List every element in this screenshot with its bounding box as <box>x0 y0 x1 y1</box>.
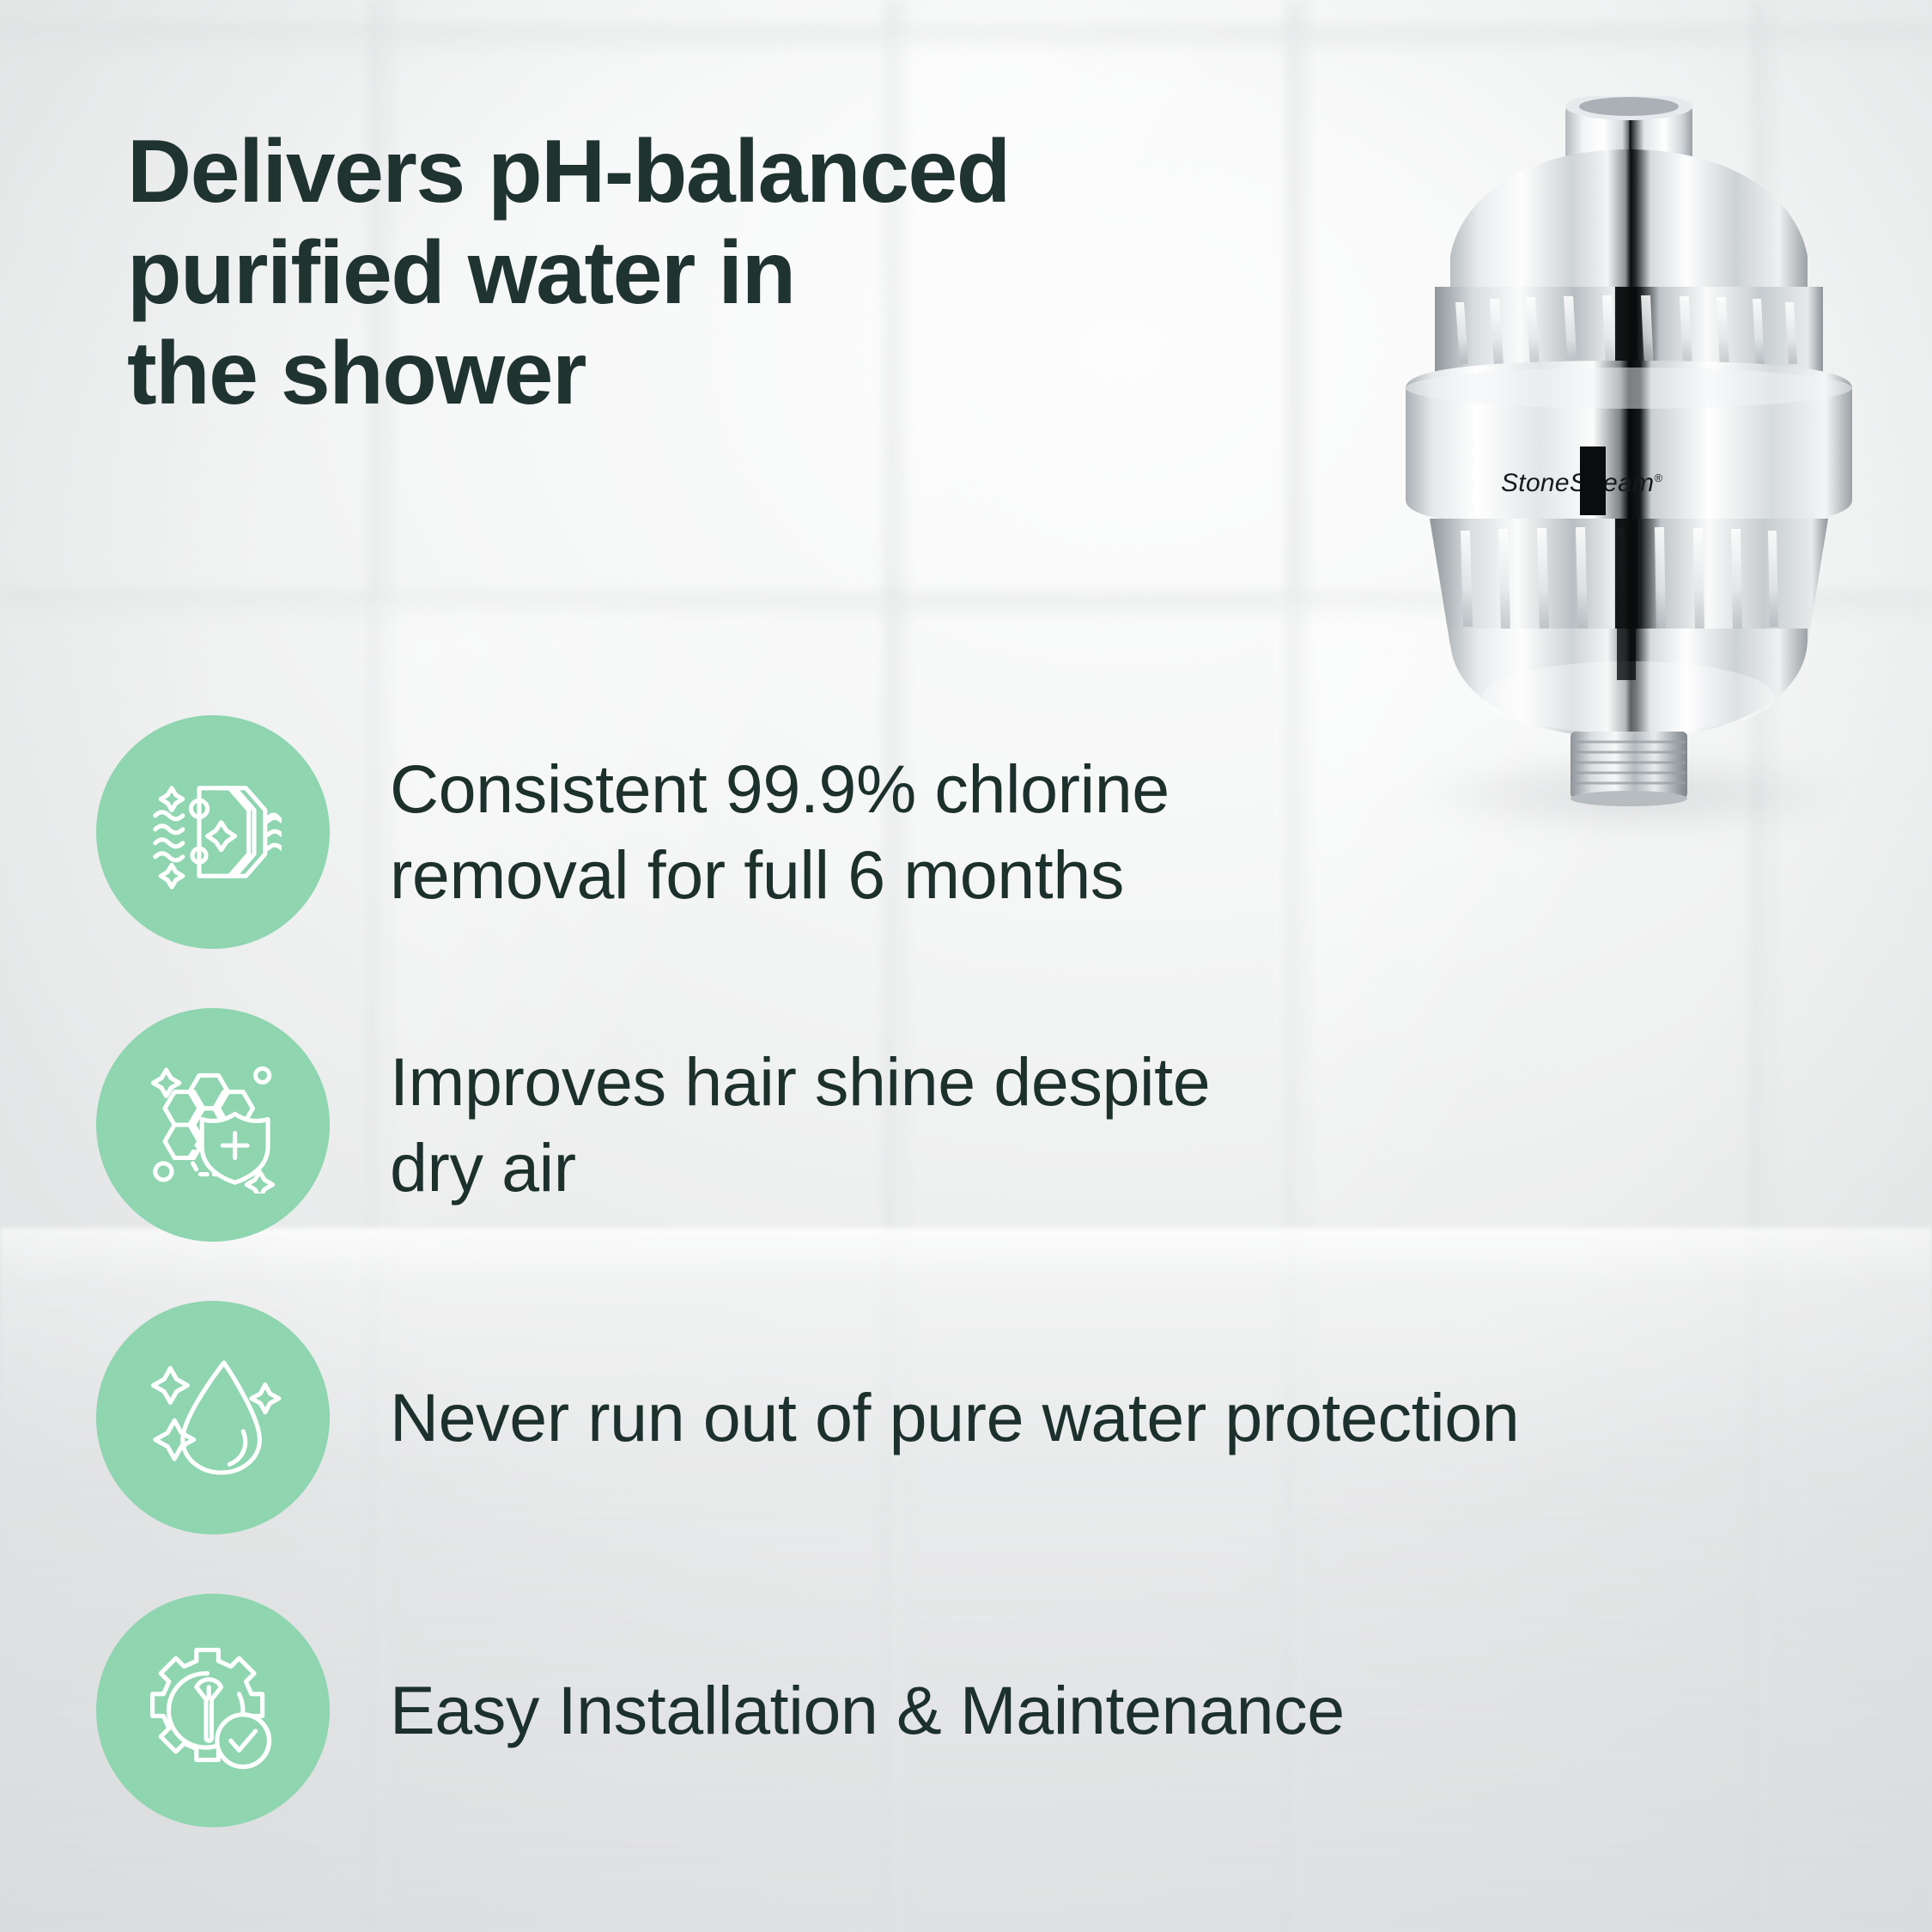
feature-text: Consistent 99.9% chlorineremoval for ful… <box>390 746 1170 919</box>
feature-row: Never run out of pure water protection <box>0 1298 1932 1537</box>
feature-line-2: dry air <box>390 1129 576 1206</box>
feature-line-1: Never run out of pure water protection <box>390 1379 1519 1455</box>
product-feature-card: Delivers pH-balancedpurified water inthe… <box>0 0 1932 1932</box>
feature-row: Easy Installation & Maintenance <box>0 1591 1932 1830</box>
headline-line-1: Delivers pH-balanced <box>127 122 1010 222</box>
feature-text: Improves hair shine despitedry air <box>390 1039 1210 1212</box>
feature-row: Improves hair shine despitedry air <box>0 1005 1932 1244</box>
feature-text: Easy Installation & Maintenance <box>390 1668 1345 1753</box>
chrome-reflection-stripe <box>1580 447 1606 515</box>
filter-layers-icon <box>144 763 282 901</box>
feature-line-1: Consistent 99.9% chlorine <box>390 750 1170 827</box>
registered-trademark-mark: ® <box>1654 471 1662 484</box>
feature-line-1: Improves hair shine despite <box>390 1043 1210 1120</box>
feature-text: Never run out of pure water protection <box>390 1375 1519 1461</box>
headline-line-3: the shower <box>127 324 586 423</box>
honeycomb-shield-icon <box>144 1056 282 1194</box>
feature-line-2: removal for full 6 months <box>390 836 1124 913</box>
headline-line-2: purified water in <box>127 223 795 323</box>
water-droplet-sparkle-icon <box>144 1349 282 1486</box>
honeycomb-shield-icon-badge <box>96 1008 330 1242</box>
feature-list: Consistent 99.9% chlorineremoval for ful… <box>0 713 1932 1884</box>
filter-layers-icon-badge <box>96 715 330 949</box>
water-droplet-sparkle-icon-badge <box>96 1301 330 1534</box>
feature-row: Consistent 99.9% chlorineremoval for ful… <box>0 713 1932 951</box>
gear-wrench-check-icon <box>144 1642 282 1779</box>
brand-name: StoneStream <box>1501 469 1654 497</box>
gear-wrench-check-icon-badge <box>96 1594 330 1827</box>
page-title: Delivers pH-balancedpurified water inthe… <box>127 122 1261 425</box>
feature-line-1: Easy Installation & Maintenance <box>390 1672 1345 1748</box>
product-image-shower-filter <box>1361 96 1893 809</box>
